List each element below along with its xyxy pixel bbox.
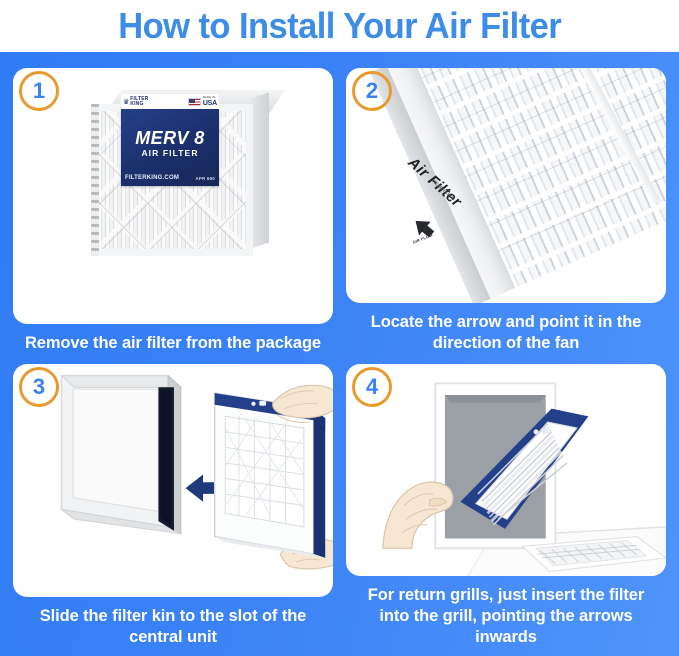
central-unit-housing [61,376,180,534]
made-in-usa-badge: MADE IN USA [188,97,217,107]
step-4-card: 4 [346,364,666,576]
step-2-number-badge: 2 [352,71,392,111]
step-2-illustration: AIR FLOW Air Filter FILTERKING [346,68,666,303]
step-4-illustration [346,364,666,576]
crown-icon: ♛ [123,99,129,106]
step-1-illustration: ♛ FILTER KING MADE IN USA [13,68,333,324]
page-title: How to Install Your Air Filter [118,8,561,44]
step-4: 4 For return grills, just insert the fil… [346,364,666,650]
filter-corner-photo: AIR FLOW Air Filter FILTERKING [346,68,666,303]
filter-label-header: ♛ FILTER KING MADE IN USA [121,94,219,110]
filter-corner-body [352,68,666,303]
title-band: How to Install Your Air Filter [0,0,679,52]
merv8-filter-photo: ♛ FILTER KING MADE IN USA [91,90,269,262]
step-1-number-badge: 1 [19,71,59,111]
filter-label-footer: FILTERKING.COM APR 650 [125,175,215,181]
return-grill-diagram [346,364,666,576]
infographic-root: How to Install Your Air Filter [0,0,679,656]
merv-rating: MERV 8 [121,129,219,147]
apr-code: APR 650 [195,176,215,181]
step-2: AIR FLOW Air Filter FILTERKING 2 Locate … [346,68,666,356]
step-1-card: ♛ FILTER KING MADE IN USA [13,68,333,324]
made-in-usa-text: MADE IN USA [203,97,217,107]
slide-filter-diagram [13,364,333,585]
brand-website: FILTERKING.COM [125,175,179,181]
step-1: ♛ FILTER KING MADE IN USA [13,68,333,356]
step-2-card: AIR FLOW Air Filter FILTERKING 2 [346,68,666,303]
step-2-caption: Locate the arrow and point it in the dir… [346,303,666,356]
filter-king-logo-text: FILTER KING [130,97,148,108]
filter-left-pleat-edge [91,104,99,256]
filter-navy-label: MERV 8 AIR FILTER FILTERKING.COM APR 650 [121,109,219,186]
step-4-number-badge: 4 [352,367,392,407]
step-1-caption: Remove the air filter from the package [13,324,333,356]
step-3-card: 3 [13,364,333,597]
step-3-caption: Slide the filter kin to the slot of the … [13,597,333,650]
step-3-illustration [13,364,333,597]
country-label: USA [203,100,217,107]
steps-grid: ♛ FILTER KING MADE IN USA [0,52,679,656]
usa-flag-icon [188,98,201,106]
product-type-label: AIR FILTER [121,149,219,158]
step-4-caption: For return grills, just insert the filte… [346,576,666,650]
filter-king-logo: ♛ FILTER KING [123,97,149,108]
step-3-number-badge: 3 [19,367,59,407]
step-3: 3 Slide the filter kin to the slot of th… [13,364,333,650]
brand-line-2: KING [130,101,143,107]
